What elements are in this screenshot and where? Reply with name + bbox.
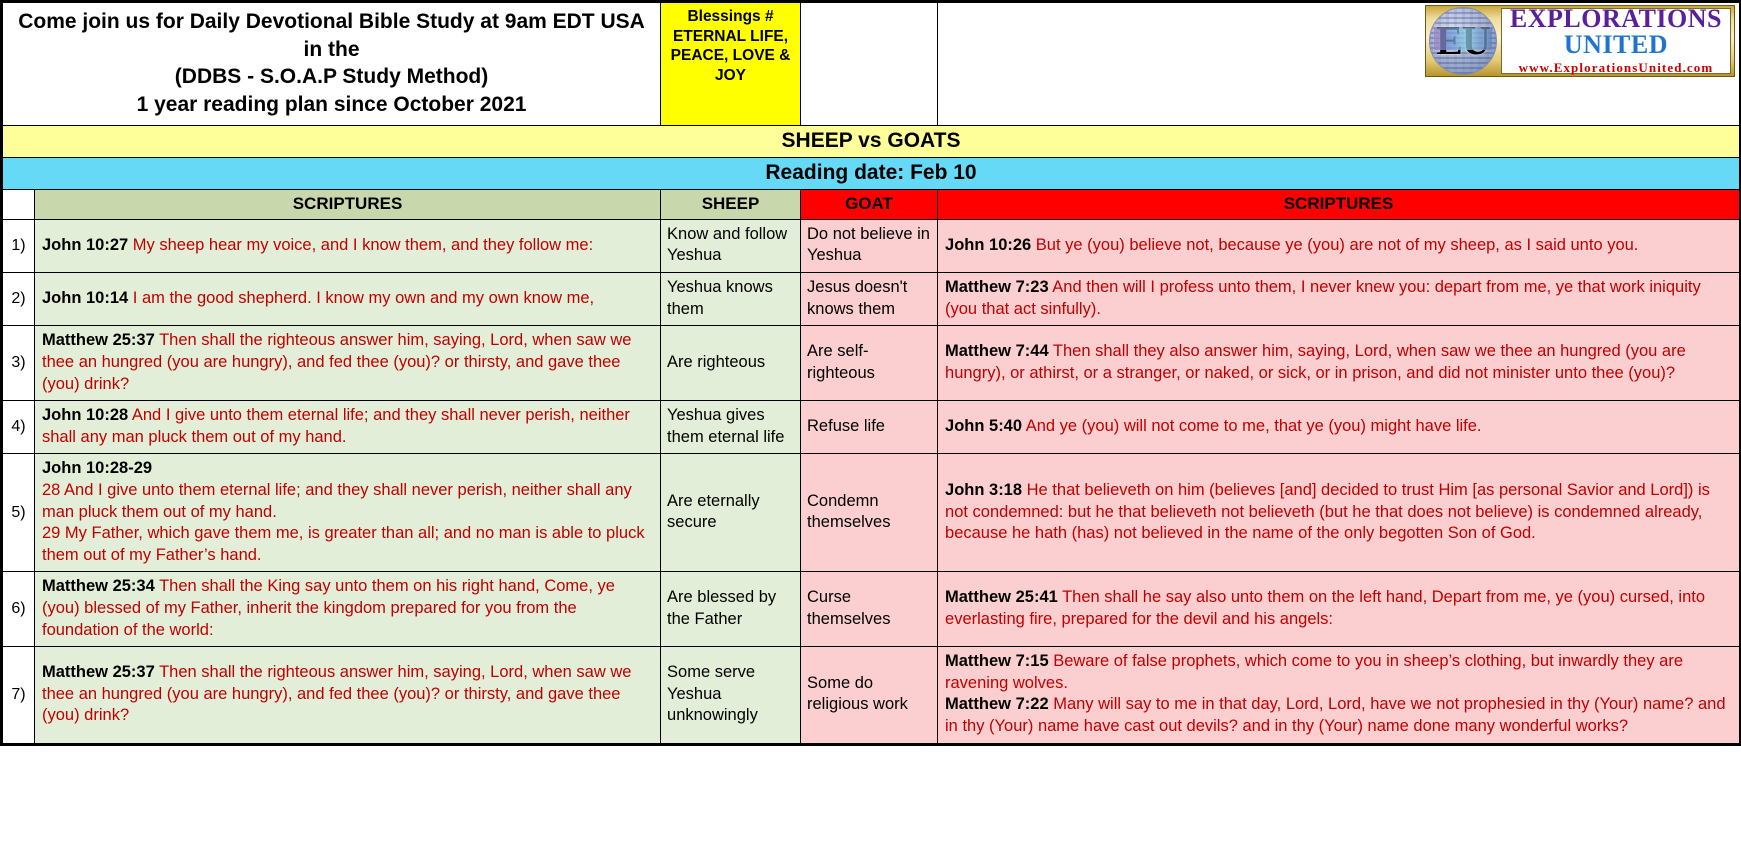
sheep-trait-label: Are eternally secure bbox=[661, 454, 801, 572]
blessings-badge: Blessings # ETERNAL LIFE, PEACE, LOVE & … bbox=[661, 3, 801, 126]
goat-trait-label: Are self-righteous bbox=[801, 326, 938, 401]
table-row: 7)Matthew 25:37 Then shall the righteous… bbox=[3, 647, 1740, 743]
blessings-line-4: JOY bbox=[664, 66, 797, 86]
table-row: 4)John 10:28 And I give unto them eterna… bbox=[3, 401, 1740, 454]
sheep-trait-label: Some serve Yeshua unknowingly bbox=[661, 647, 801, 743]
column-header-goat: GOAT bbox=[801, 189, 938, 219]
goat-scripture-cell: Matthew 7:15 Beware of false prophets, w… bbox=[938, 647, 1740, 743]
table-row: 5)John 10:28-2928 And I give unto them e… bbox=[3, 454, 1740, 572]
page-title-line-3: 1 year reading plan since October 2021 bbox=[11, 91, 652, 119]
sheep-trait-label: Know and follow Yeshua bbox=[661, 219, 801, 272]
row-number: 4) bbox=[3, 401, 35, 454]
topic-banner-row: SHEEP vs GOATS bbox=[3, 125, 1740, 157]
sheep-scripture-cell: John 10:28 And I give unto them eternal … bbox=[35, 401, 661, 454]
sheep-trait-label: Yeshua gives them eternal life bbox=[661, 401, 801, 454]
table-row: 3)Matthew 25:37 Then shall the righteous… bbox=[3, 326, 1740, 401]
goat-scripture-cell: Matthew 25:41 Then shall he say also unt… bbox=[938, 572, 1740, 647]
blessings-line-1: Blessings # bbox=[664, 7, 797, 27]
reading-date-row: Reading date: Feb 10 bbox=[3, 157, 1740, 189]
goat-trait-label: Curse themselves bbox=[801, 572, 938, 647]
sheep-scripture-cell: John 10:14 I am the good shepherd. I kno… bbox=[35, 273, 661, 326]
blessings-line-2: ETERNAL LIFE, bbox=[664, 27, 797, 47]
sheep-trait-label: Are righteous bbox=[661, 326, 801, 401]
goat-scripture-cell: John 10:26 But ye (you) believe not, bec… bbox=[938, 219, 1740, 272]
sheep-scripture-cell: John 10:28-2928 And I give unto them ete… bbox=[35, 454, 661, 572]
logo-wordmark: EXPLORATIONS UNITED www.ExplorationsUnit… bbox=[1501, 8, 1731, 74]
goat-trait-label: Do not believe in Yeshua bbox=[801, 219, 938, 272]
sheep-scripture-cell: Matthew 25:37 Then shall the righteous a… bbox=[35, 326, 661, 401]
bible-study-comparison-sheet: Come join us for Daily Devotional Bible … bbox=[0, 0, 1741, 746]
column-header-sheep-scriptures: SCRIPTURES bbox=[35, 189, 661, 219]
column-header-goat-scriptures: SCRIPTURES bbox=[938, 189, 1740, 219]
main-table: Come join us for Daily Devotional Bible … bbox=[2, 2, 1740, 744]
goat-scripture-cell: Matthew 7:44 Then shall they also answer… bbox=[938, 326, 1740, 401]
sheep-scripture-cell: Matthew 25:37 Then shall the righteous a… bbox=[35, 647, 661, 743]
brand-logo-cell: EU EXPLORATIONS UNITED www.ExplorationsU… bbox=[938, 3, 1740, 126]
goat-trait-label: Some do religious work bbox=[801, 647, 938, 743]
sheep-trait-label: Are blessed by the Father bbox=[661, 572, 801, 647]
corner-header-cell bbox=[3, 189, 35, 219]
sheep-trait-label: Yeshua knows them bbox=[661, 273, 801, 326]
topic-banner: SHEEP vs GOATS bbox=[3, 125, 1740, 157]
table-body: 1)John 10:27 My sheep hear my voice, and… bbox=[3, 219, 1740, 743]
goat-scripture-cell: Matthew 7:23 And then will I profess unt… bbox=[938, 273, 1740, 326]
logo-badge: EU EXPLORATIONS UNITED www.ExplorationsU… bbox=[1425, 5, 1735, 77]
header-spacer-cell bbox=[801, 3, 938, 126]
page-title: Come join us for Daily Devotional Bible … bbox=[3, 3, 661, 126]
column-header-row: SCRIPTURES SHEEP GOAT SCRIPTURES bbox=[3, 189, 1740, 219]
goat-scripture-cell: John 3:18 He that believeth on him (beli… bbox=[938, 454, 1740, 572]
logo-monogram: EU bbox=[1430, 21, 1496, 61]
reading-date-banner: Reading date: Feb 10 bbox=[3, 157, 1740, 189]
sheep-scripture-cell: Matthew 25:34 Then shall the King say un… bbox=[35, 572, 661, 647]
goat-scripture-cell: John 5:40 And ye (you) will not come to … bbox=[938, 401, 1740, 454]
row-number: 6) bbox=[3, 572, 35, 647]
row-number: 1) bbox=[3, 219, 35, 272]
row-number: 5) bbox=[3, 454, 35, 572]
page-title-line-2: (DDBS - S.O.A.P Study Method) bbox=[11, 63, 652, 91]
logo-line-explorations: EXPLORATIONS bbox=[1510, 6, 1722, 33]
table-row: 2)John 10:14 I am the good shepherd. I k… bbox=[3, 273, 1740, 326]
column-header-sheep: SHEEP bbox=[661, 189, 801, 219]
logo-website-url: www.ExplorationsUnited.com bbox=[1510, 60, 1722, 76]
row-number: 3) bbox=[3, 326, 35, 401]
header-row: Come join us for Daily Devotional Bible … bbox=[3, 3, 1740, 126]
sheep-scripture-cell: John 10:27 My sheep hear my voice, and I… bbox=[35, 219, 661, 272]
table-row: 1)John 10:27 My sheep hear my voice, and… bbox=[3, 219, 1740, 272]
page-title-line-1: Come join us for Daily Devotional Bible … bbox=[11, 8, 652, 63]
globe-icon: EU bbox=[1429, 7, 1497, 75]
goat-trait-label: Refuse life bbox=[801, 401, 938, 454]
goat-trait-label: Jesus doesn't knows them bbox=[801, 273, 938, 326]
goat-trait-label: Condemn themselves bbox=[801, 454, 938, 572]
row-number: 7) bbox=[3, 647, 35, 743]
table-row: 6)Matthew 25:34 Then shall the King say … bbox=[3, 572, 1740, 647]
blessings-line-3: PEACE, LOVE & bbox=[664, 46, 797, 66]
logo-line-united: UNITED bbox=[1510, 32, 1722, 59]
row-number: 2) bbox=[3, 273, 35, 326]
